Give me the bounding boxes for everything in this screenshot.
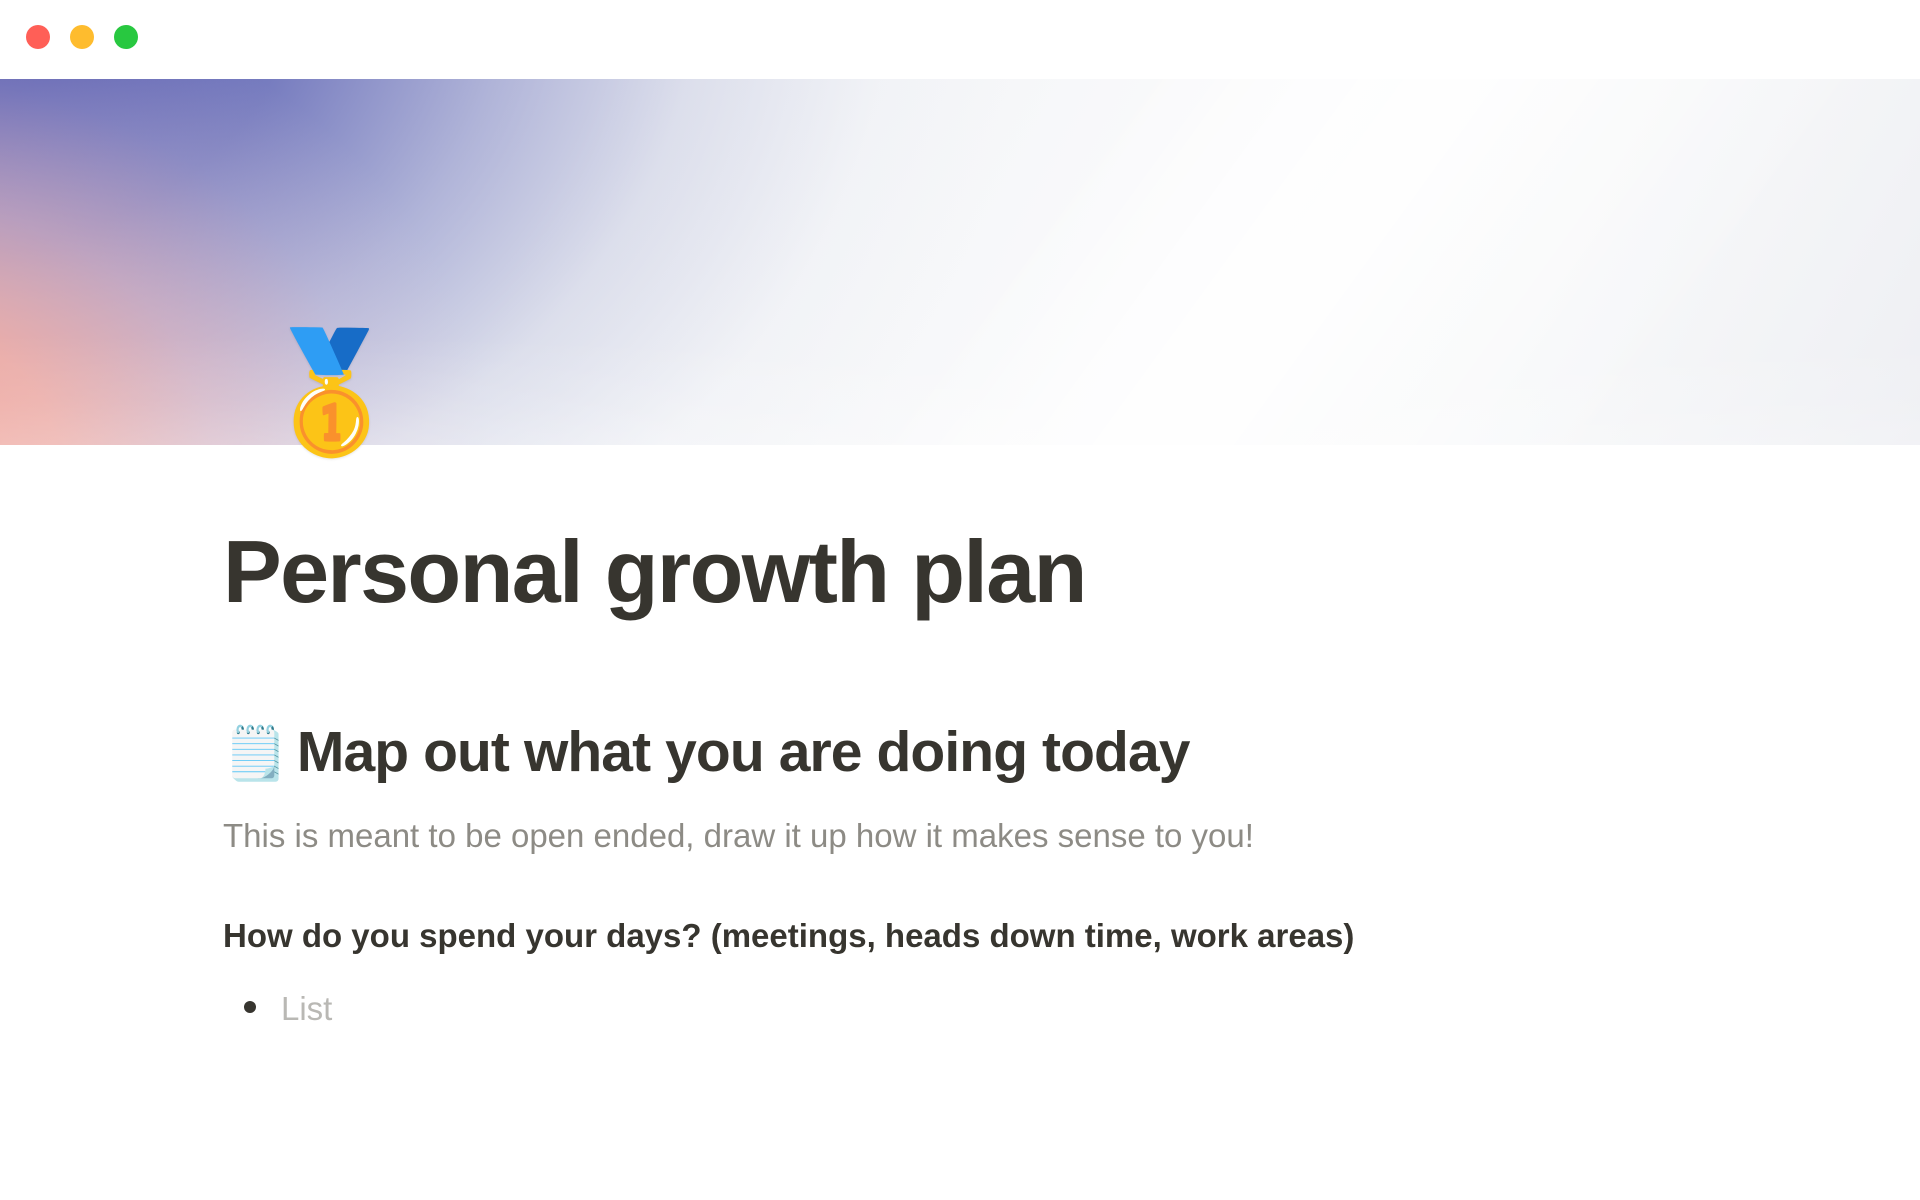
description-paragraph[interactable]: This is meant to be open ended, draw it … xyxy=(223,812,1683,860)
window-traffic-lights xyxy=(26,25,138,49)
gold-medal-emoji[interactable]: 🥇 xyxy=(258,334,405,452)
section-heading-text: Map out what you are doing today xyxy=(297,719,1190,786)
bulleted-list: List xyxy=(223,985,1683,1033)
minimize-window-button[interactable] xyxy=(70,25,94,49)
close-window-button[interactable] xyxy=(26,25,50,49)
window-title-bar xyxy=(0,0,1920,79)
bullet-icon xyxy=(244,1001,256,1013)
question-paragraph[interactable]: How do you spend your days? (meetings, h… xyxy=(223,912,1683,960)
maximize-window-button[interactable] xyxy=(114,25,138,49)
section-heading[interactable]: 🗒️ Map out what you are doing today xyxy=(223,719,1683,786)
document-content-column: Personal growth plan 🗒️ Map out what you… xyxy=(223,525,1683,1033)
page-title[interactable]: Personal growth plan xyxy=(223,525,1683,618)
spiral-notepad-emoji: 🗒️ xyxy=(223,728,287,780)
list-item-label: List xyxy=(281,985,332,1033)
document-body: Personal growth plan 🗒️ Map out what you… xyxy=(0,445,1920,1200)
list-item[interactable]: List xyxy=(223,985,1683,1033)
